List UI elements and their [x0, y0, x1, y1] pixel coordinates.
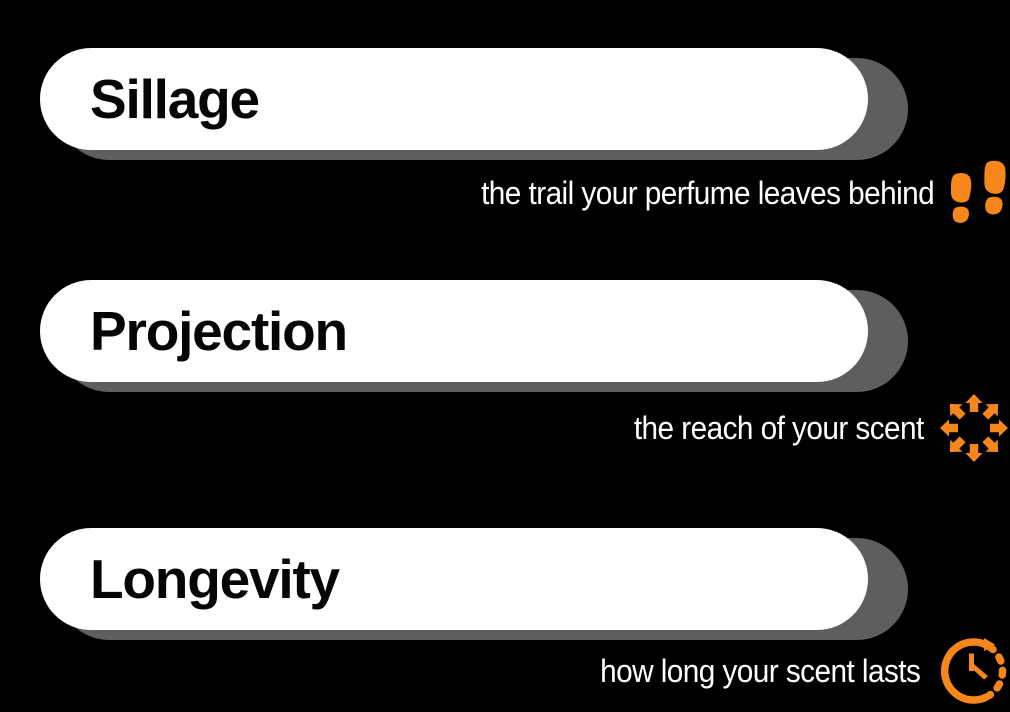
pill-projection: Projection: [40, 280, 908, 392]
caption-text-sillage: the trail your perfume leaves behind: [481, 175, 934, 212]
caption-line-longevity: how long your scent lasts: [0, 630, 1010, 712]
pill-title-longevity: Longevity: [90, 528, 339, 630]
caption-line-projection: the reach of your scent: [0, 390, 1010, 466]
pill-longevity: Longevity: [40, 528, 908, 640]
footprints-icon: [948, 160, 1010, 226]
caption-text-longevity: how long your scent lasts: [600, 653, 920, 690]
radiating-arrows-icon: [938, 392, 1010, 464]
pill-sillage: Sillage: [40, 48, 908, 160]
pill-title-sillage: Sillage: [90, 48, 259, 150]
caption-line-sillage: the trail your perfume leaves behind: [0, 166, 1010, 220]
infographic-board: Sillage the trail your perfume leaves be…: [0, 0, 1010, 710]
caption-text-projection: the reach of your scent: [634, 410, 924, 447]
pill-title-projection: Projection: [90, 280, 347, 382]
clock-duration-icon: [934, 632, 1010, 710]
